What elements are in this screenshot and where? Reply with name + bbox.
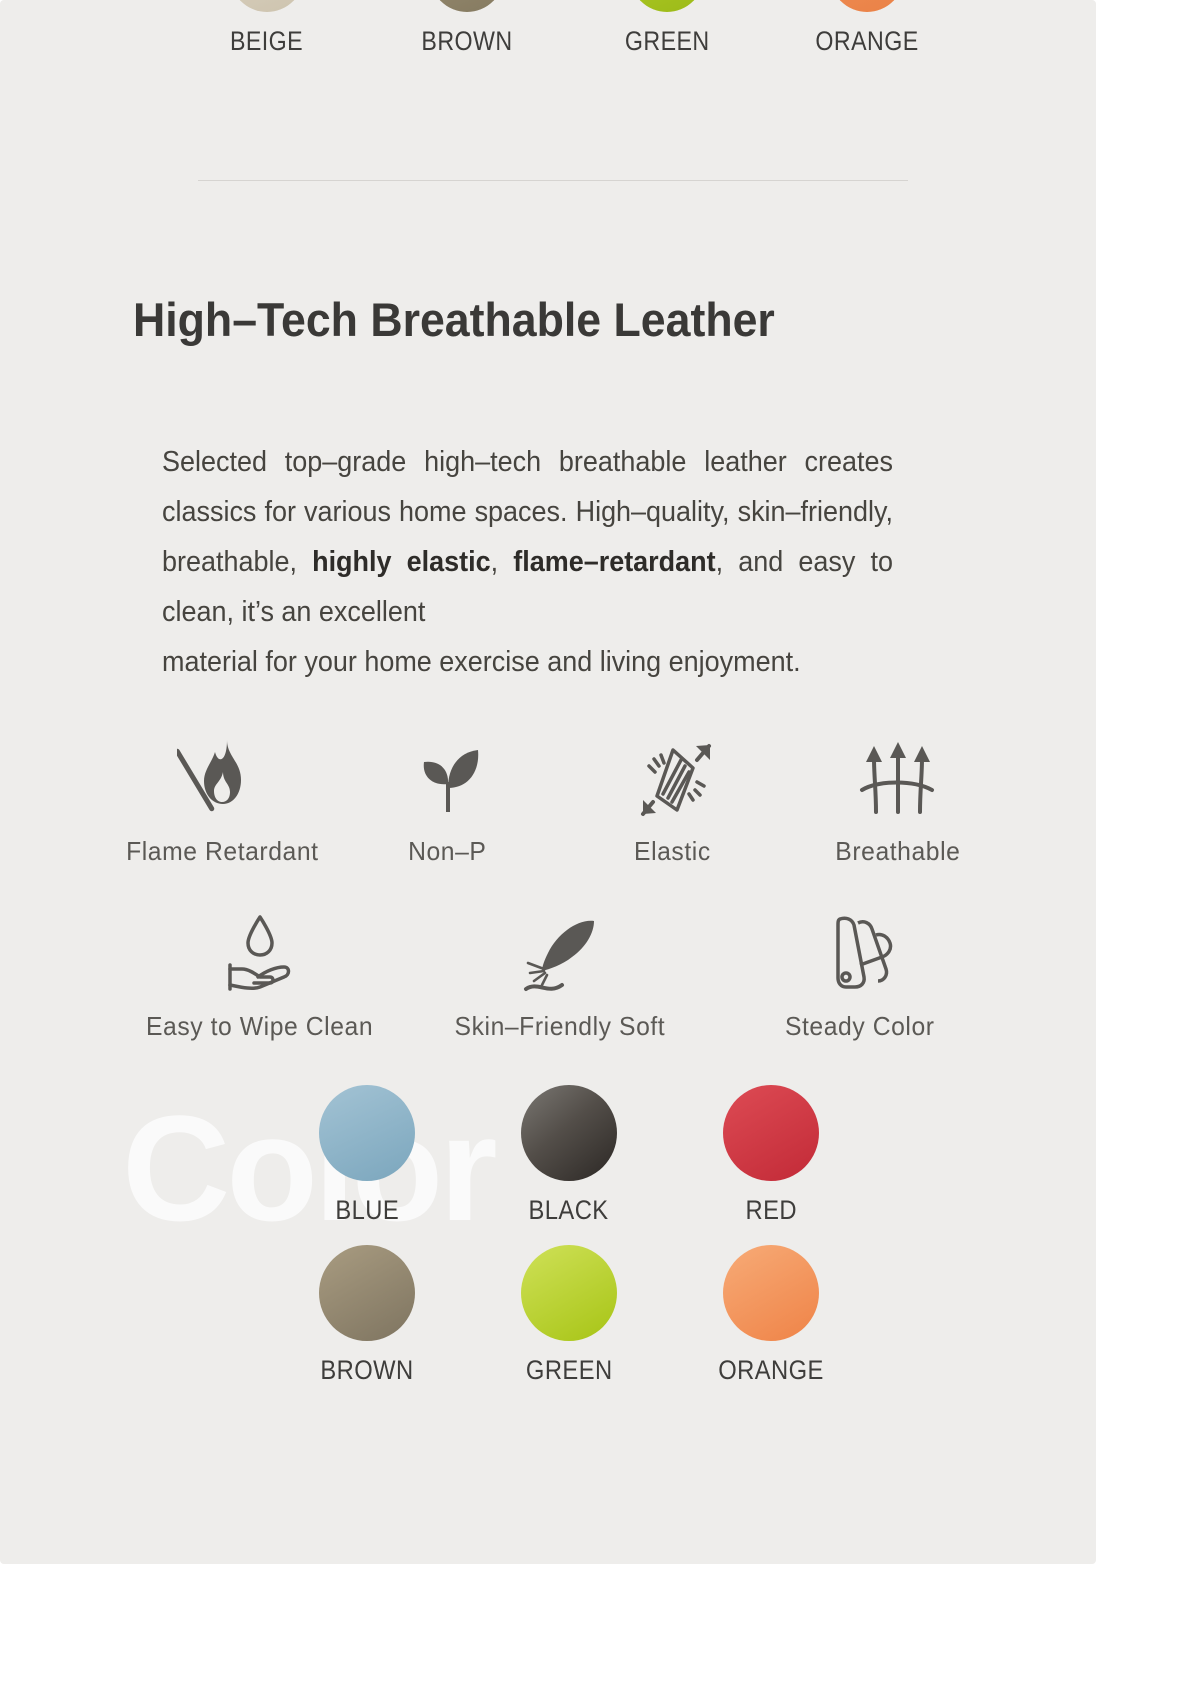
feature-row-2: Easy to Wipe Clean Skin–Friendly Soft: [110, 903, 1010, 1042]
color-label-red: RED: [745, 1195, 796, 1226]
color-swatch-grid: BLUE BLACK RED BROWN: [0, 1085, 1096, 1386]
feature-label-flame-retardant: Flame Retardant: [126, 836, 319, 867]
color-label-black: BLACK: [529, 1195, 609, 1226]
feature-icon-grid: Flame Retardant Non–P: [110, 728, 1010, 1042]
section-description: Selected top–grade high–tech breathable …: [162, 437, 893, 687]
feather-icon: [514, 903, 606, 995]
feature-skin-friendly-soft: Skin–Friendly Soft: [410, 903, 710, 1042]
feature-label-skin-friendly-soft: Skin–Friendly Soft: [455, 1011, 666, 1042]
description-bold-elastic: highly elastic: [312, 546, 491, 578]
feature-steady-color: Steady Color: [710, 903, 1010, 1042]
swatch-dot-brown-2[interactable]: [319, 1245, 415, 1341]
color-swatch-brown[interactable]: BROWN: [319, 1245, 415, 1386]
page-title: High–Tech Breathable Leather: [133, 292, 775, 347]
color-swatch-orange[interactable]: ORANGE: [723, 1245, 819, 1386]
top-swatch-beige[interactable]: BEIGE: [210, 0, 324, 57]
color-swatch-row-2: BROWN GREEN ORANGE: [0, 1245, 1096, 1386]
leaf-sprout-icon: [402, 728, 494, 820]
water-drop-hand-icon: [214, 903, 306, 995]
color-swatch-green[interactable]: GREEN: [521, 1245, 617, 1386]
section-divider: [198, 180, 908, 181]
color-swatch-row-1: BLUE BLACK RED: [0, 1085, 1096, 1226]
swatch-dot-beige[interactable]: [230, 0, 304, 12]
top-swatch-orange[interactable]: ORANGE: [810, 0, 924, 57]
swatch-dot-green[interactable]: [630, 0, 704, 12]
swatch-label-green: GREEN: [625, 26, 710, 57]
product-detail-page: BEIGE BROWN GREEN ORANGE High–Tech Breat…: [0, 0, 1200, 1700]
top-swatch-green[interactable]: GREEN: [610, 0, 724, 57]
color-swatch-red[interactable]: RED: [723, 1085, 819, 1226]
color-label-green: GREEN: [526, 1355, 613, 1386]
content-sheet: BEIGE BROWN GREEN ORANGE High–Tech Breat…: [0, 0, 1096, 1564]
description-part-2: ,: [491, 546, 514, 578]
swatch-dot-orange[interactable]: [830, 0, 904, 12]
feature-flame-retardant: Flame Retardant: [110, 728, 335, 867]
top-swatch-brown[interactable]: BROWN: [410, 0, 524, 57]
feature-label-non-p: Non–P: [408, 836, 486, 867]
color-label-orange: ORANGE: [718, 1355, 824, 1386]
swatch-dot-red[interactable]: [723, 1085, 819, 1181]
feature-row-1: Flame Retardant Non–P: [110, 728, 1010, 867]
flame-retardant-icon: [177, 728, 269, 820]
swatch-label-orange: ORANGE: [815, 26, 918, 57]
swatch-label-beige: BEIGE: [230, 26, 303, 57]
description-bold-flame: flame–retardant: [513, 546, 715, 578]
color-swatch-black[interactable]: BLACK: [521, 1085, 617, 1226]
top-color-swatch-row: BEIGE BROWN GREEN ORANGE: [0, 0, 1096, 57]
color-swatch-blue[interactable]: BLUE: [319, 1085, 415, 1226]
color-label-blue: BLUE: [335, 1195, 399, 1226]
feature-label-steady-color: Steady Color: [785, 1011, 935, 1042]
feature-breathable: Breathable: [785, 728, 1010, 867]
swatch-dot-blue[interactable]: [319, 1085, 415, 1181]
color-label-brown: BROWN: [320, 1355, 413, 1386]
feature-easy-to-wipe-clean: Easy to Wipe Clean: [110, 903, 410, 1042]
swatch-dot-orange-2[interactable]: [723, 1245, 819, 1341]
feature-elastic: Elastic: [560, 728, 785, 867]
feature-label-breathable: Breathable: [835, 836, 960, 867]
feature-label-elastic: Elastic: [634, 836, 711, 867]
feature-non-p: Non–P: [335, 728, 560, 867]
swatch-dot-black[interactable]: [521, 1085, 617, 1181]
swatch-label-brown: BROWN: [421, 26, 512, 57]
color-options-section: Color BLUE BLACK RED: [0, 1085, 1096, 1386]
description-part-4: material for your home exercise and livi…: [162, 637, 893, 687]
elastic-stretch-icon: [627, 728, 719, 820]
swatch-dot-green-2[interactable]: [521, 1245, 617, 1341]
swatch-dot-brown[interactable]: [430, 0, 504, 12]
feature-label-easy-to-wipe-clean: Easy to Wipe Clean: [146, 1011, 373, 1042]
breathable-arrows-icon: [852, 728, 944, 820]
color-fan-icon: [814, 903, 906, 995]
